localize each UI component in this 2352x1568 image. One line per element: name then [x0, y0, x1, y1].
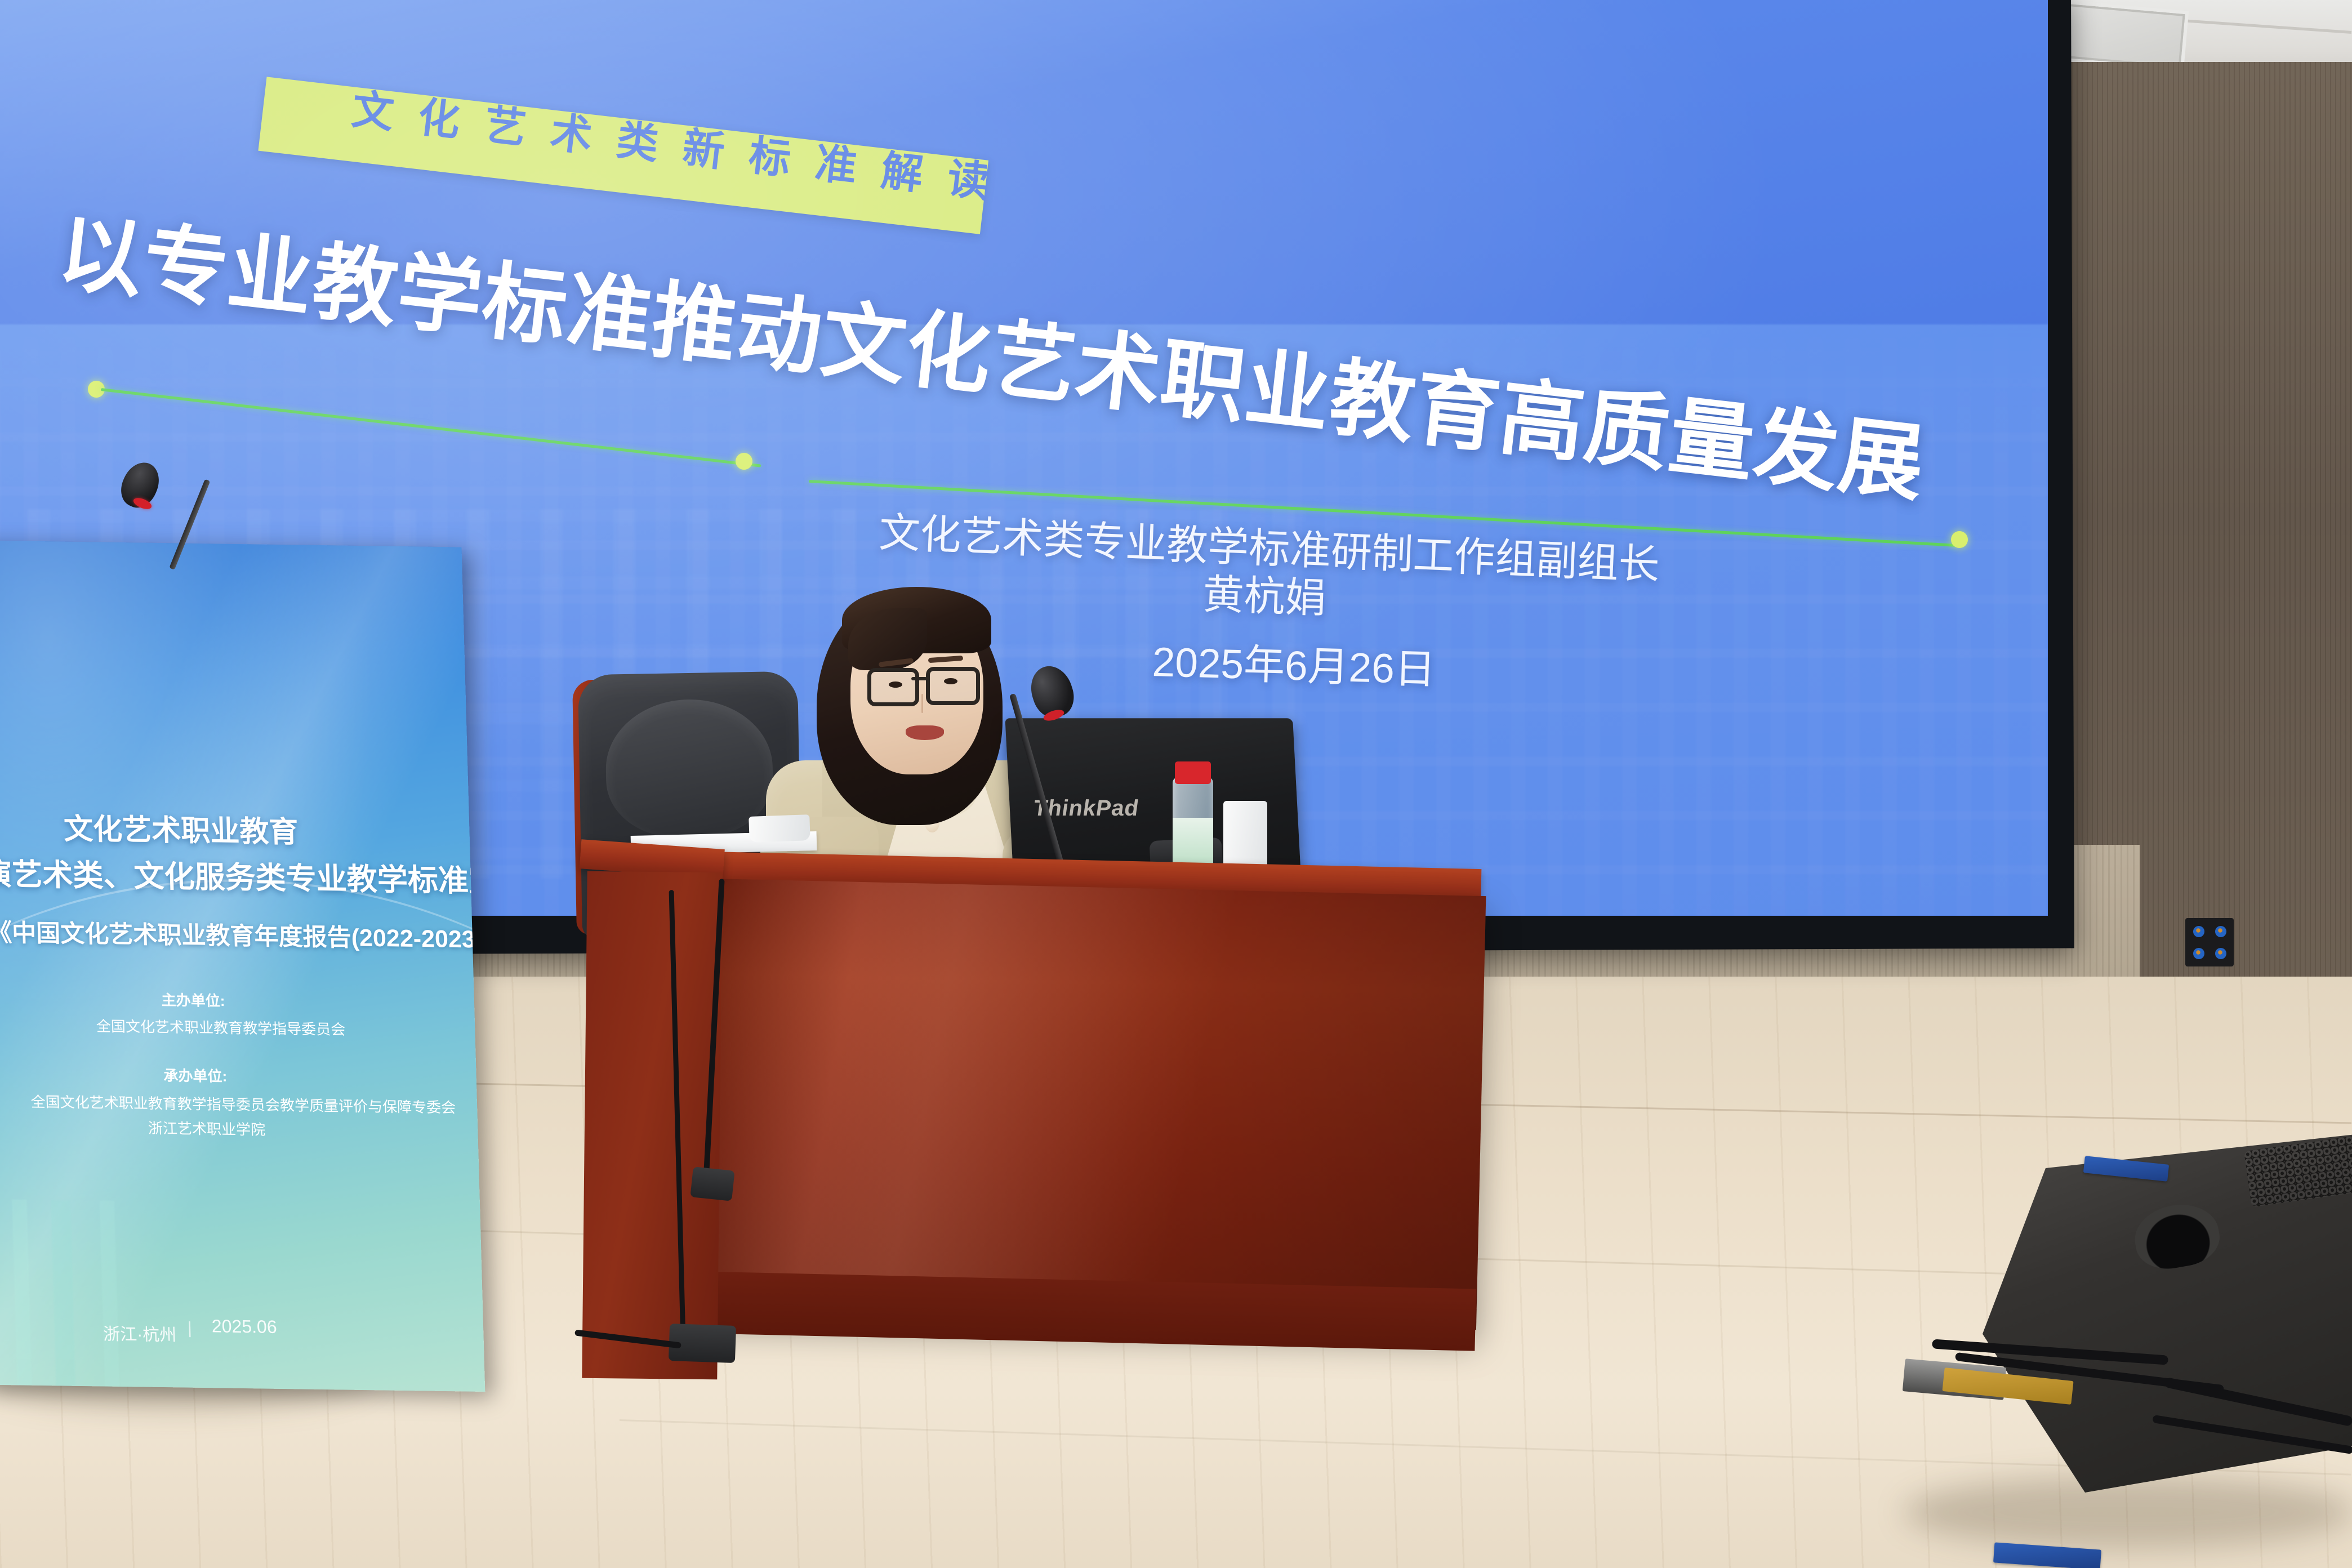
- glasses-icon: [867, 668, 983, 707]
- cup-on-desk[interactable]: [749, 814, 810, 843]
- banner-host-value: 全国文化艺术职业教育教学指导委员会: [96, 1015, 345, 1039]
- water-bottle-label: [1173, 818, 1213, 865]
- banner-footer-location: 浙江·杭州: [103, 1320, 176, 1346]
- monitor-shadow: [1904, 1476, 2352, 1549]
- socket-port-icon: [2215, 926, 2226, 937]
- presenter-nose: [921, 694, 923, 713]
- socket-port-icon: [2193, 948, 2204, 959]
- slide-accent-rule: [101, 388, 761, 467]
- water-bottle-cap: [1175, 761, 1211, 784]
- banner-organizer-label: 承办单位:: [163, 1064, 228, 1086]
- banner-line-2: 表演艺术类、文化服务类专业教学标准宣贯培训: [0, 848, 485, 902]
- glasses-lens-right: [926, 667, 980, 705]
- banner-line-1: 文化艺术职业教育: [63, 805, 299, 850]
- banner-line-3: 《中国文化艺术职业教育年度报告(2022-2023)》发布会: [0, 913, 485, 956]
- banner-city-silhouette: [0, 1199, 475, 1392]
- presenter-mouth: [906, 725, 944, 740]
- rollup-banner: 文化艺术职业教育 表演艺术类、文化服务类专业教学标准宣贯培训 《中国文化艺术职业…: [0, 540, 485, 1392]
- presenter-eye-left: [889, 681, 902, 688]
- slide-accent-dot-far-right: [1951, 531, 1968, 548]
- slide-title: 以专业教学标准推动文化艺术职业教育高质量发展: [53, 184, 1932, 518]
- banner-host-label: 主办单位:: [161, 989, 225, 1011]
- banner-organizer-value-1: 全国文化艺术职业教育教学指导委员会教学质量评价与保障专委会: [30, 1090, 456, 1117]
- wall-socket-plate[interactable]: [2185, 918, 2234, 966]
- power-adapter: [690, 1166, 734, 1201]
- banner-organizer-value-2: 浙江艺术职业学院: [148, 1117, 265, 1139]
- desk-left-side: [582, 871, 722, 1379]
- banner-footer-date: 2025.06: [211, 1316, 277, 1338]
- presenter-eye-right: [944, 678, 957, 684]
- desk-front-panel: [705, 879, 1486, 1330]
- socket-port-icon: [2193, 926, 2204, 937]
- slide-subtitle-name: 黄杭娟: [1202, 561, 1328, 625]
- socket-port-icon: [2215, 948, 2226, 959]
- glasses-bridge: [911, 677, 927, 680]
- screenshot-root: 文 化 艺 术 类 新 标 准 解 读 以专业教学标准推动文化艺术职业教育高质量…: [0, 0, 2352, 1568]
- slide-accent-dot-right: [736, 453, 752, 470]
- banner-footer-separator: |: [187, 1319, 192, 1338]
